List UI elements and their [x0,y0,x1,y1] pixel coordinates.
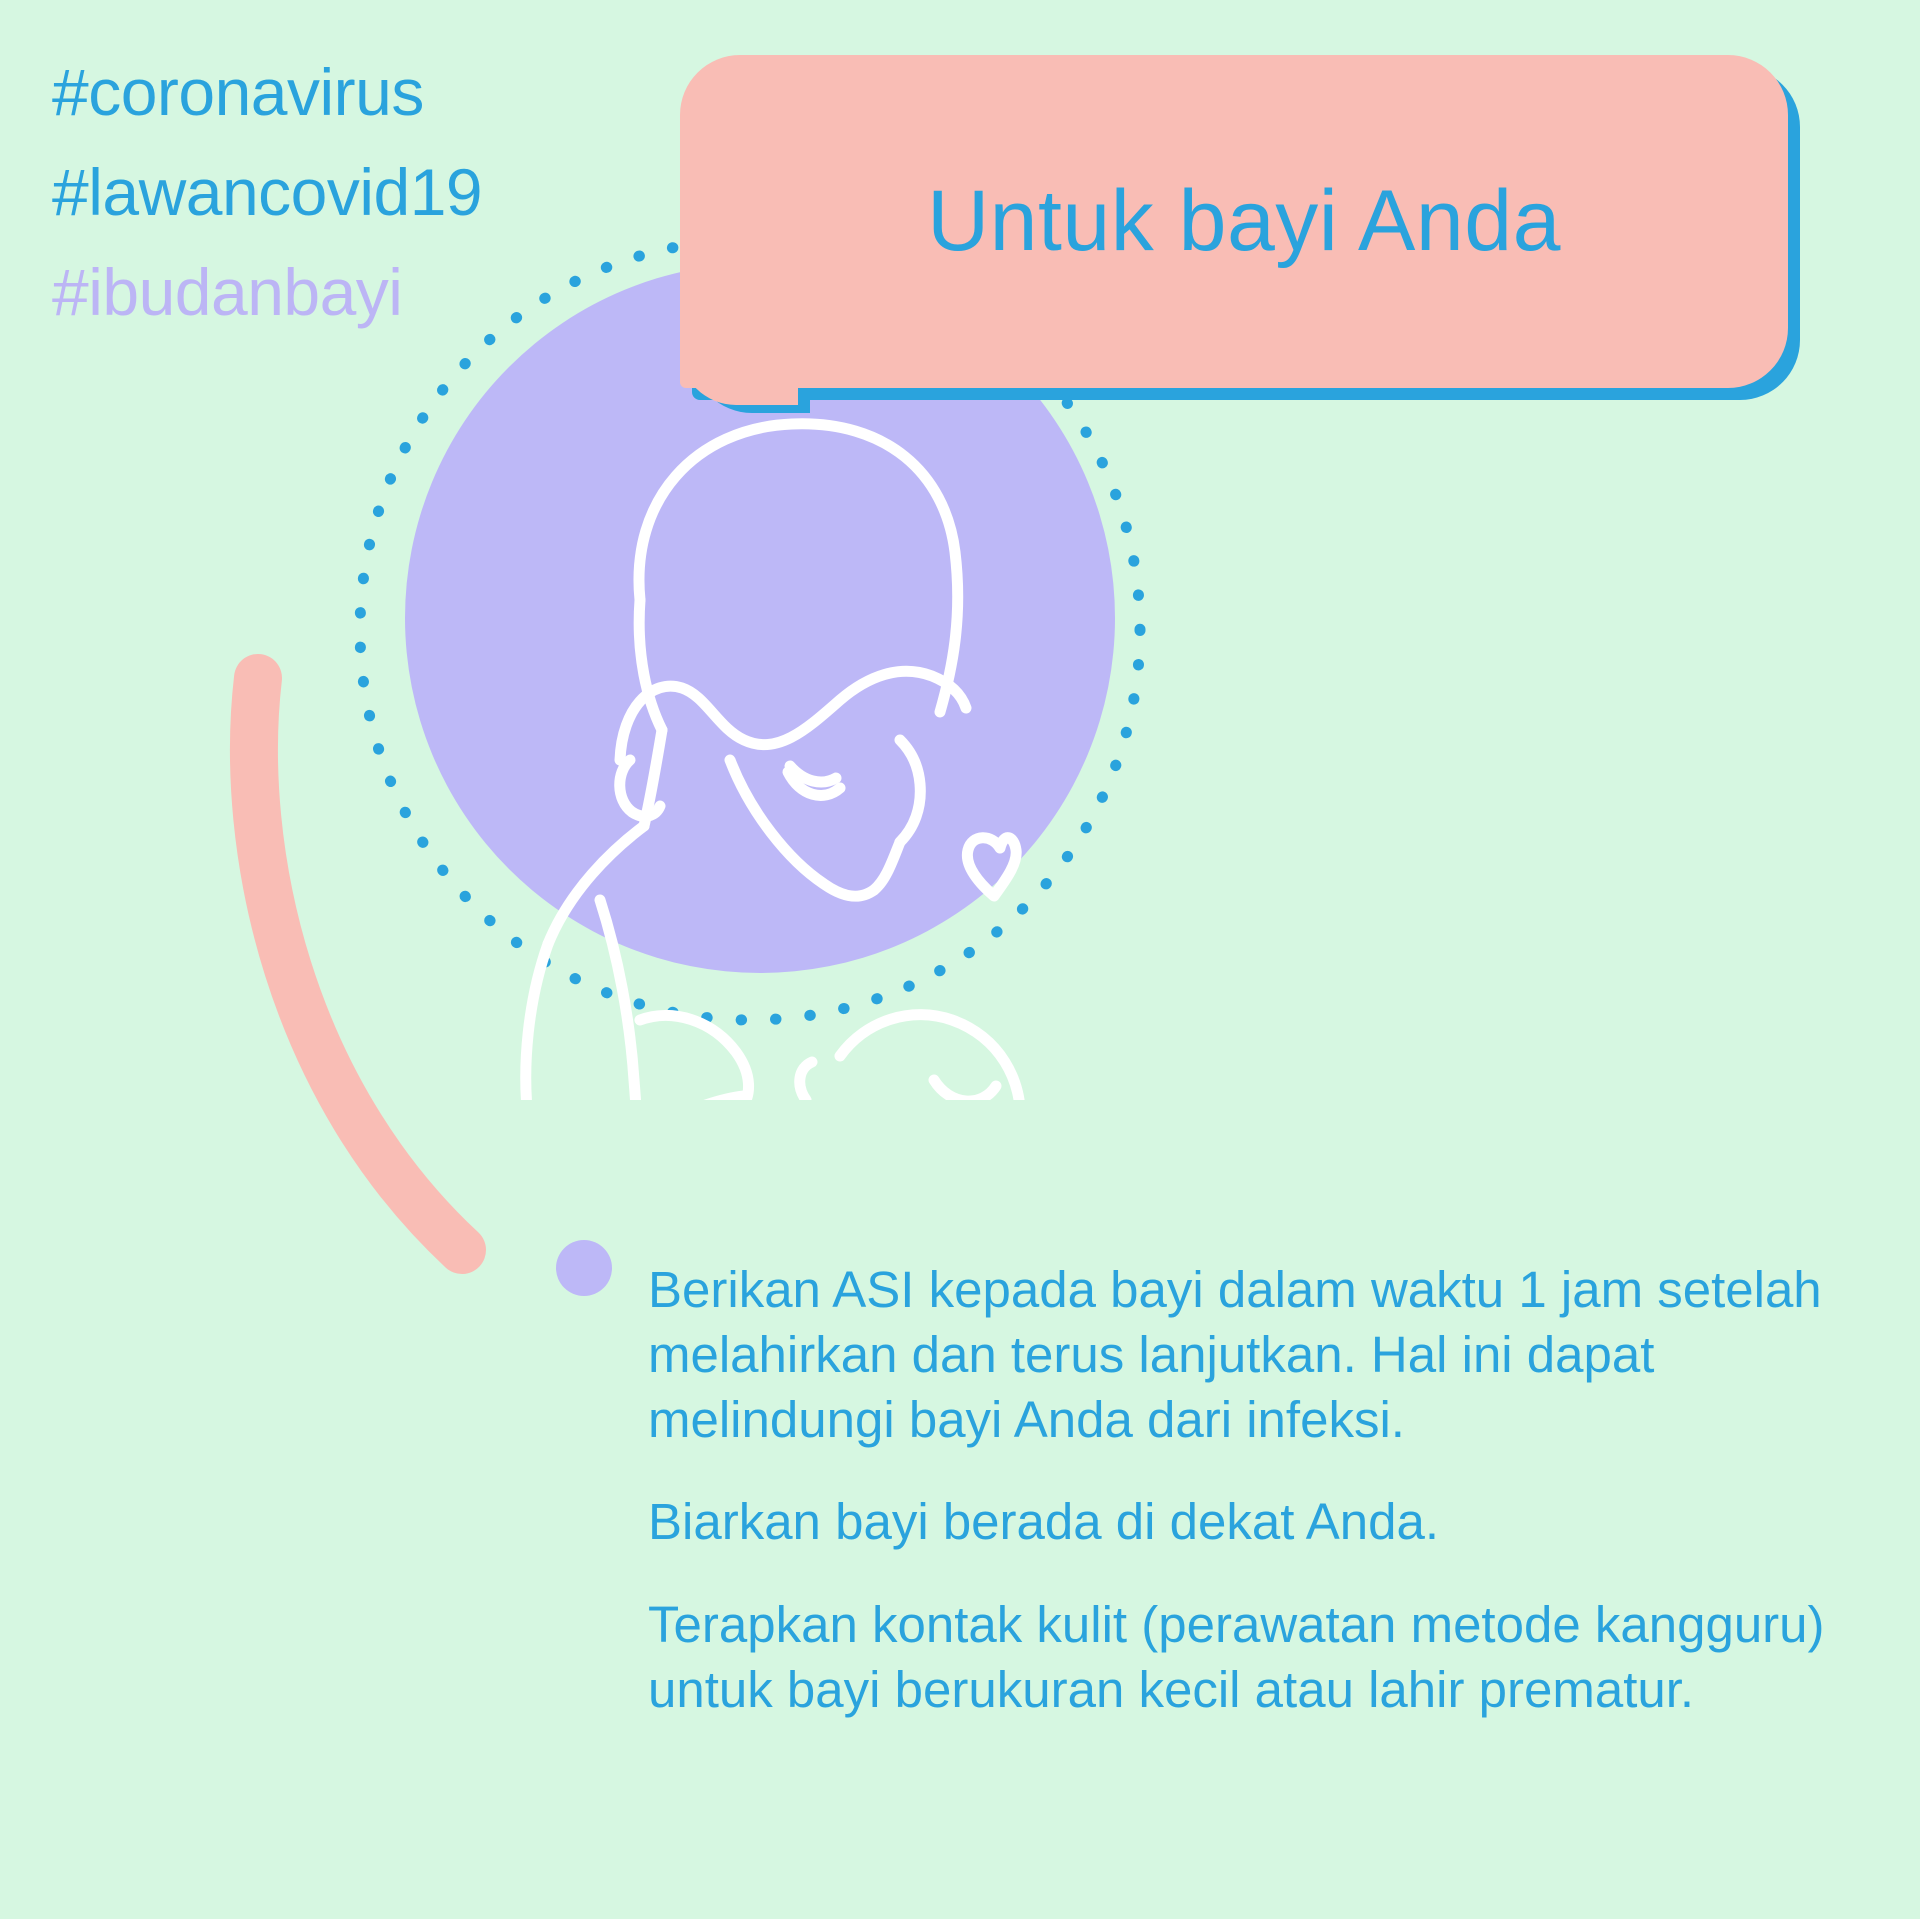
hashtag-coronavirus: #coronavirus [52,59,482,126]
body-text-block: Berikan ASI kepada bayi dalam waktu 1 ja… [648,1258,1848,1723]
poster-canvas: #coronavirus #lawancovid19 #ibudanbayi [0,0,1920,1919]
page-title: Untuk bayi Anda [680,55,1788,388]
pink-arc-svg [180,620,560,1320]
bullet-dot [556,1240,612,1296]
paragraph-skin-to-skin: Terapkan kontak kulit (perawatan metode … [648,1593,1848,1723]
paragraph-keep-baby-close: Biarkan bayi berada di dekat Anda. [648,1490,1848,1555]
paragraph-breastfeeding: Berikan ASI kepada bayi dalam waktu 1 ja… [648,1258,1848,1452]
speech-bubble: Untuk bayi Anda [680,55,1810,410]
pink-arc-decoration [180,620,560,1320]
